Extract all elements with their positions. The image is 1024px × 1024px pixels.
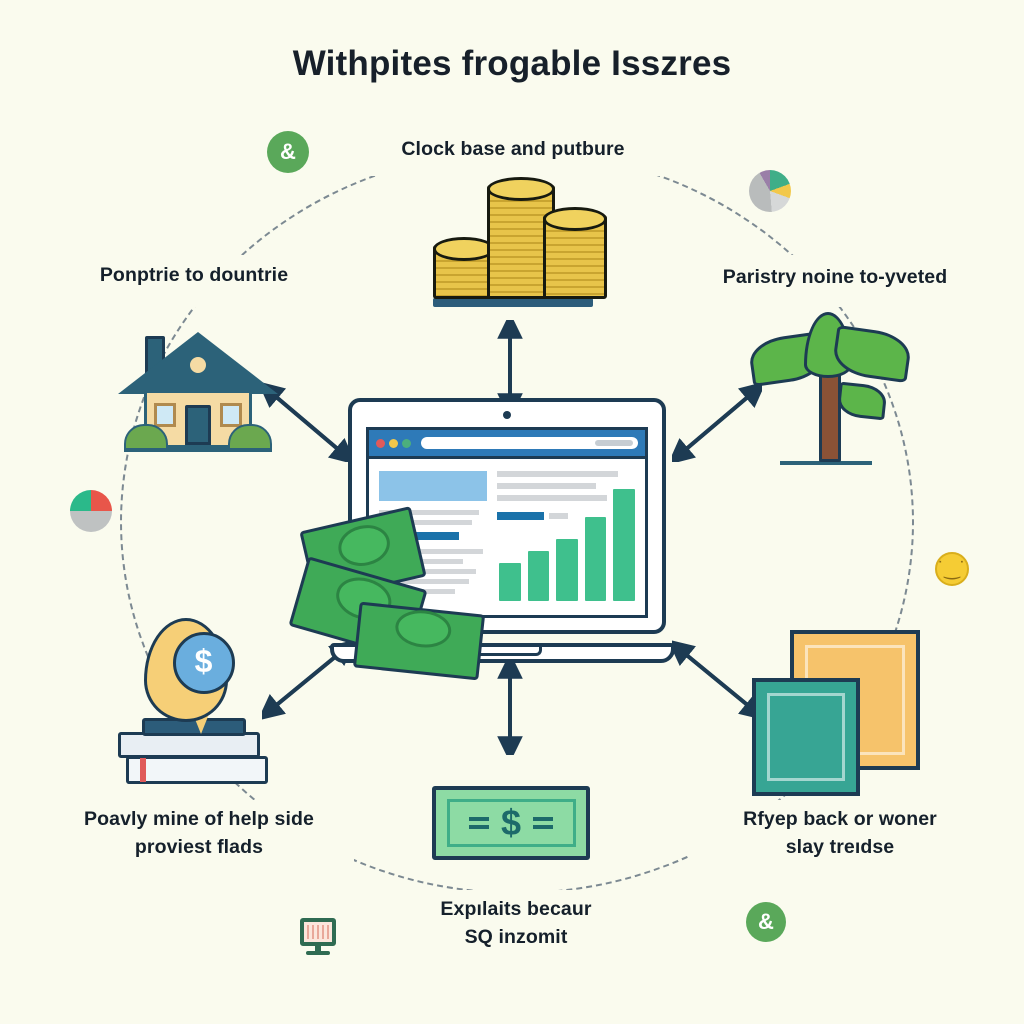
maximize-dot-icon[interactable]: [402, 439, 411, 448]
certificates-icon: [752, 630, 932, 790]
cash-bill: [353, 602, 485, 681]
node-label-right-bottom: Rfyep back or woner slay treıdse: [690, 806, 990, 861]
window-right: [220, 403, 242, 427]
green-badge-icon: &: [267, 131, 309, 173]
label-line-1: Poavly mine of help side: [44, 806, 354, 834]
page-title: Withpites frogable Isszres: [0, 44, 1024, 84]
label-line-2: proviest flads: [44, 834, 354, 862]
label-line-1: Rfyep back or woner: [690, 806, 990, 834]
banknote-dollar-symbol: $: [501, 805, 521, 841]
green-badge-icon-2: &: [746, 902, 786, 942]
gold-coin-stacks-icon: [425, 172, 600, 307]
bush-right: [228, 424, 272, 450]
infographic-canvas: Withpites frogable Isszres: [0, 0, 1024, 1024]
monitor-foot: [306, 951, 330, 955]
door: [185, 405, 211, 445]
tree-trunk: [819, 370, 841, 462]
leaf-right-lower: [836, 382, 887, 421]
banknote-frame: $: [447, 799, 576, 847]
map-pin-books-icon: $: [118, 618, 283, 790]
arrow-down-center: [470, 660, 550, 755]
monitor-icon: [300, 918, 336, 946]
arrow-up-center: [470, 320, 550, 410]
attic-window: [187, 354, 209, 376]
label-line-2: SQ inzomit: [392, 924, 640, 952]
node-label-left-top: Ponptrie to dountrie: [58, 262, 330, 290]
window-left: [154, 403, 176, 427]
image-placeholder: [379, 471, 487, 501]
arrow-downright: [672, 640, 762, 720]
chart-bar: [556, 539, 578, 601]
label-line-1: Expılaits becaur: [392, 896, 640, 924]
coin-stack-medium: [543, 215, 607, 299]
label-line-2: slay treıdse: [690, 834, 990, 862]
browser-titlebar: [369, 430, 645, 459]
chart-bar: [585, 517, 607, 601]
certificate-teal: [752, 678, 860, 796]
pie-chart-icon: [749, 170, 791, 212]
node-label-right-top: Paristry noine to-yveted: [696, 264, 974, 292]
node-label-left-bottom: Poavly mine of help side proviest flads: [44, 806, 354, 861]
chart-bar: [613, 489, 635, 601]
coin-base-bar: [433, 298, 593, 307]
webcam-icon: [503, 411, 511, 419]
coin-face-icon: ˙‿˙: [935, 552, 969, 586]
bookmark: [140, 758, 146, 782]
node-label-bottom: Expılaits becaur SQ inzomit: [392, 896, 640, 951]
node-label-top: Clock base and putbure: [348, 136, 678, 164]
house-icon: [118, 312, 278, 454]
pin-dollar-symbol: $: [173, 632, 235, 694]
banknote-mark-right: [533, 814, 553, 832]
address-bar[interactable]: [421, 437, 638, 449]
coin-stack-small: [433, 245, 495, 299]
dollar-banknote-icon: $: [432, 786, 590, 860]
badge-glyph: &: [267, 131, 309, 173]
minimize-dot-icon[interactable]: [389, 439, 398, 448]
tree-icon: [742, 308, 917, 470]
book-top: [126, 756, 268, 784]
badge-glyph: &: [746, 902, 786, 942]
close-dot-icon[interactable]: [376, 439, 385, 448]
content-right-column: [497, 471, 635, 603]
bar-chart: [499, 489, 635, 601]
banknote-mark-left: [469, 814, 489, 832]
pie-chart-icon-2: [70, 490, 112, 532]
text-line: [497, 471, 618, 477]
chart-bar: [528, 551, 550, 601]
chart-bar: [499, 563, 521, 601]
